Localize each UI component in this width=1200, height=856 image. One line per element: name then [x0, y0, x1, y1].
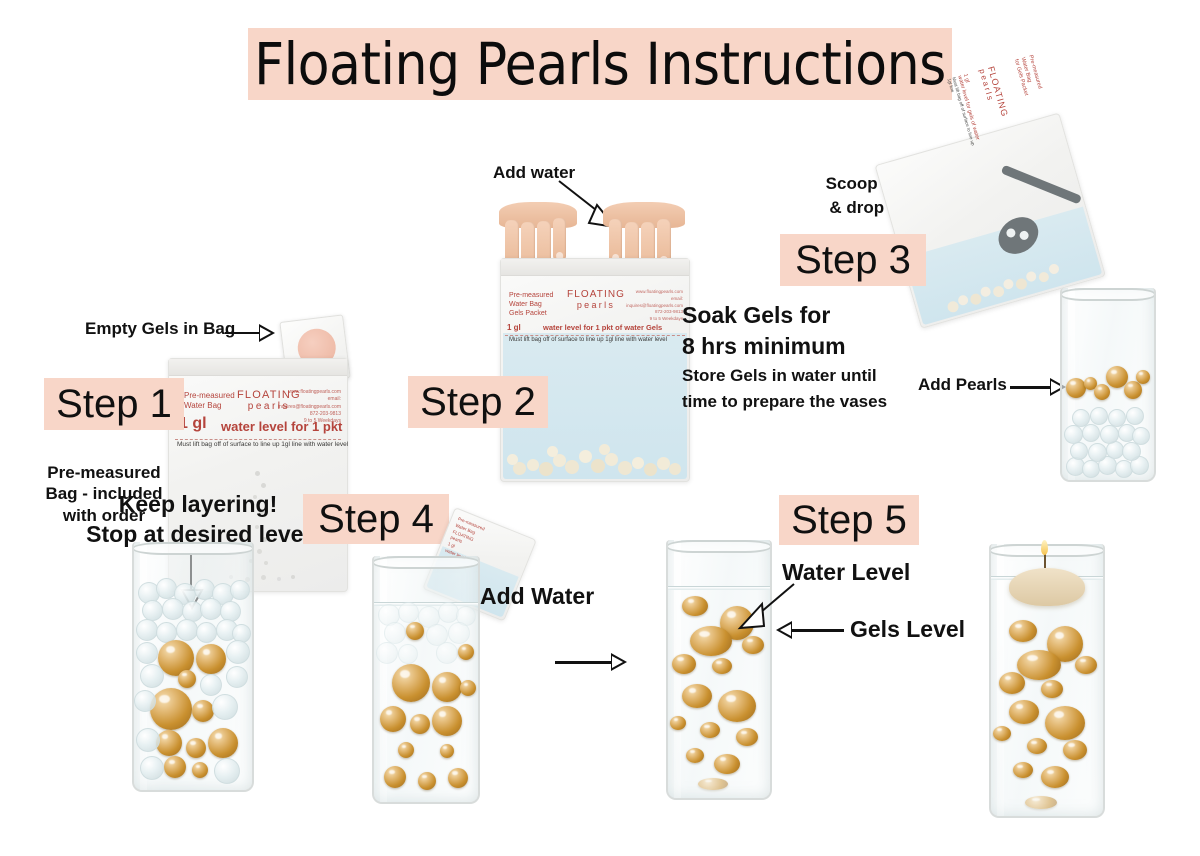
step-5-group: Water Level Gels Level	[640, 520, 1000, 820]
bag2-line1: Pre-measured	[509, 292, 553, 299]
add-pearls-arrow-line	[1010, 386, 1052, 389]
bag2-brand-bottom: pearls	[567, 300, 625, 310]
bag2-water-level: water level for 1 pkt of water Gels	[543, 323, 662, 332]
keep-layering-label: Keep layering! Stop at desired level	[68, 490, 328, 550]
gels-level-arrow-head	[776, 621, 792, 639]
final-pearls	[991, 614, 1103, 816]
bag2-line3: Gels Packet	[509, 310, 547, 317]
soaked-gels-heap	[501, 433, 689, 477]
page-title: Floating Pearls Instructions	[248, 28, 952, 100]
empty-gels-in-bag-label: Empty Gels in Bag	[85, 318, 235, 339]
transition-arrow-line	[555, 661, 613, 664]
vase-rim	[372, 556, 480, 569]
clear-gels-fill	[1062, 394, 1154, 480]
candle-flame-icon	[1041, 540, 1048, 555]
final-candle-vase	[989, 544, 1105, 818]
step3-vase	[1060, 288, 1156, 482]
vase-rim	[1060, 288, 1156, 301]
step3-pearls	[1062, 362, 1154, 402]
vase-rim	[132, 542, 254, 555]
final-vase-group	[975, 520, 1155, 820]
transition-arrow-head	[611, 653, 627, 671]
step4-layered-vase	[132, 542, 254, 792]
step4-contents	[374, 602, 478, 802]
bag2-volume: 1 gl	[507, 323, 521, 332]
step-1-group: Empty Gels in Bag Pre-measured Water Bag…	[0, 150, 400, 470]
step-2-badge: Step 2	[408, 376, 548, 428]
empty-gels-arrow-head	[259, 324, 275, 342]
instruction-poster: Floating Pearls Instructions Empty Gels …	[0, 0, 1200, 856]
candle-wick	[1044, 554, 1046, 568]
step4-filling-vase	[372, 556, 480, 804]
bag-zip-seal	[501, 259, 689, 276]
water-bag-soaking: Pre-measured Water Bag Gels Packet FLOAT…	[500, 258, 690, 482]
add-water-step4-label: Add Water	[480, 582, 594, 611]
step-3-group: Scoop out Gels & drop in vase Pre-measur…	[760, 130, 1200, 480]
step-3-badge: Step 3	[780, 234, 926, 286]
gels-level-label: Gels Level	[850, 615, 965, 644]
step-4-pouring-group: Pre-measuredWater BagFLOATINGpearls1 glw…	[350, 520, 630, 820]
gels-level-arrow-line	[792, 629, 844, 632]
step-1-badge: Step 1	[44, 378, 184, 430]
bag2-line2: Water Bag	[509, 301, 542, 308]
vase-rim	[666, 540, 772, 553]
empty-gels-arrow-line	[225, 332, 261, 334]
bag2-brand-top: FLOATING	[567, 289, 625, 300]
layered-gels-and-pearls	[134, 578, 252, 790]
floating-candle	[1009, 568, 1085, 606]
add-pearls-label: Add Pearls	[918, 374, 1007, 395]
water-level-label: Water Level	[782, 558, 910, 587]
